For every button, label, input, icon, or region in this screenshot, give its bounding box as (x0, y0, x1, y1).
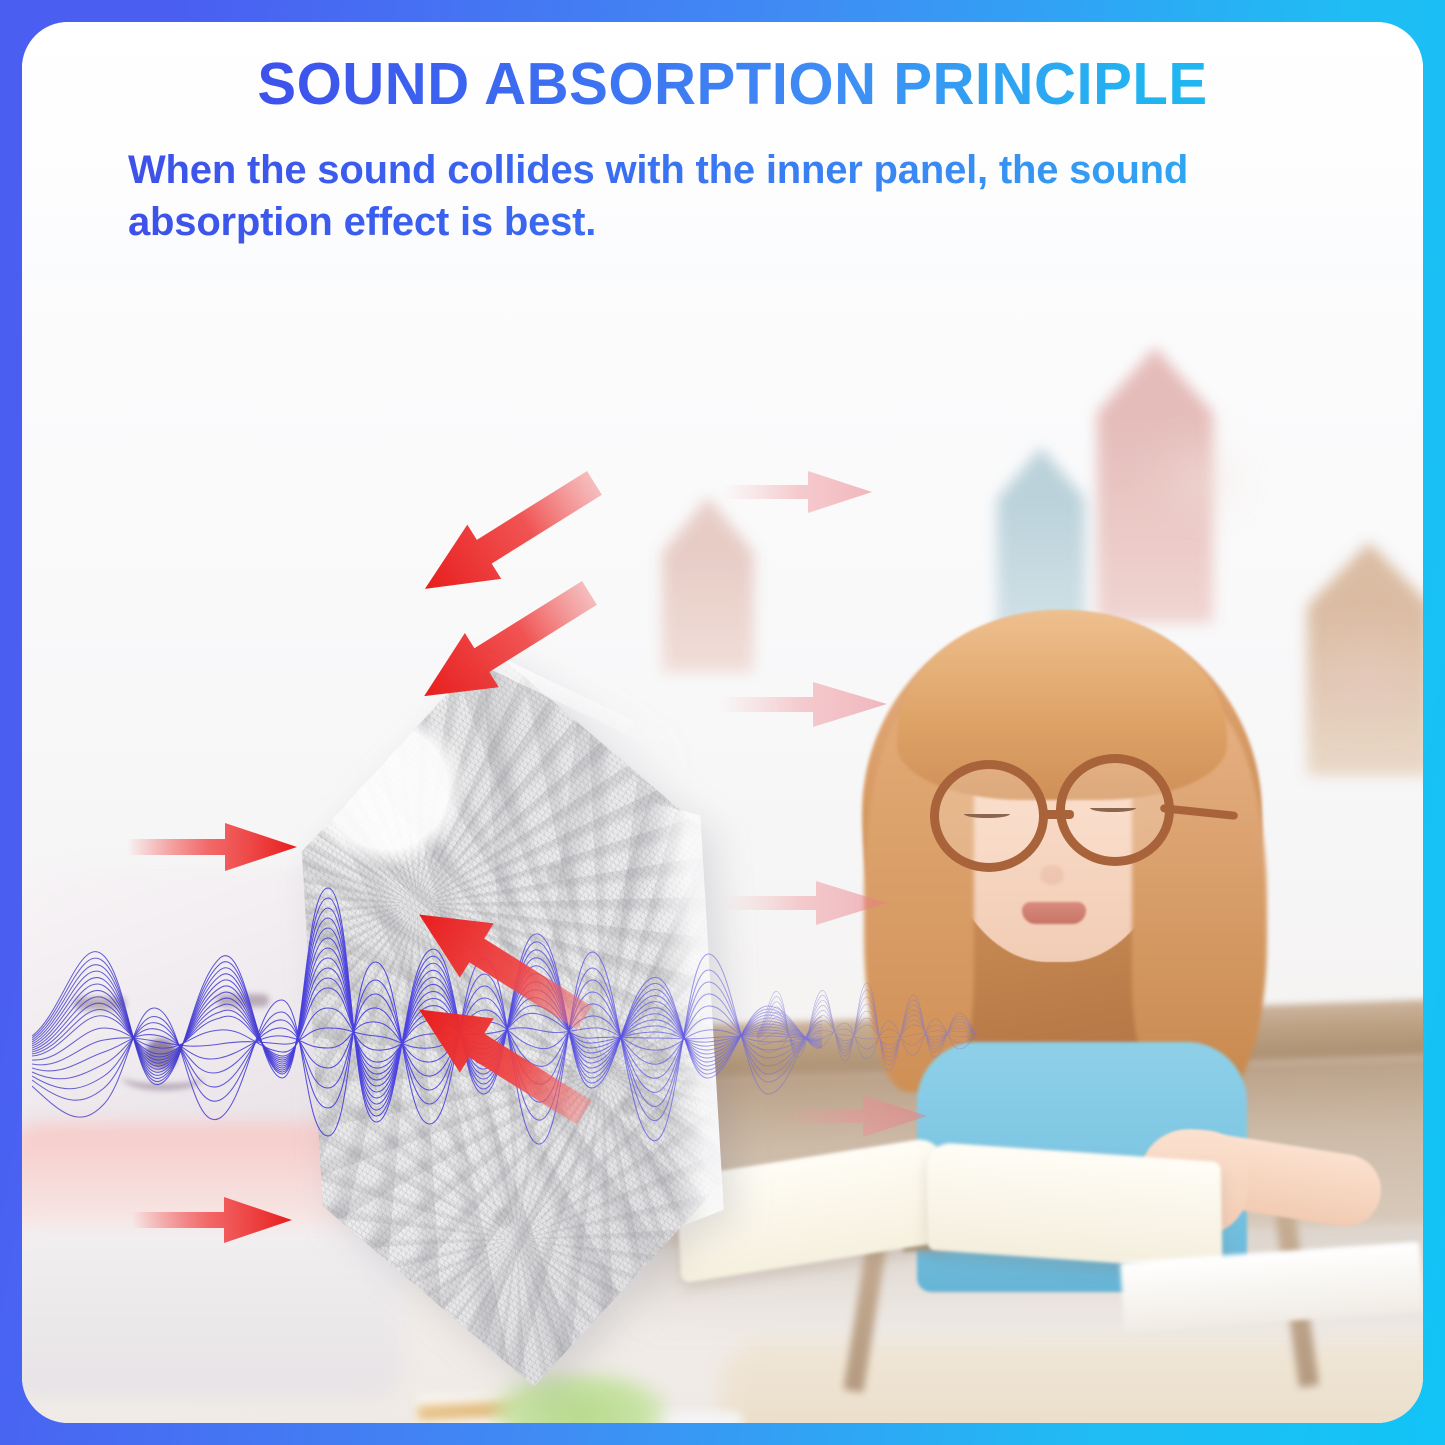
glasses-bridge (1044, 810, 1074, 819)
infographic-card: SOUND ABSORPTION PRINCIPLE When the soun… (0, 0, 1445, 1445)
incident-sound-arrow (127, 817, 297, 877)
page-title: SOUND ABSORPTION PRINCIPLE (92, 54, 1373, 116)
room-photo-scene (22, 252, 1423, 1423)
hair-fringe (897, 610, 1227, 800)
page-subtitle: When the sound collides with the inner p… (82, 144, 1383, 248)
shelf-roof (997, 447, 1085, 499)
eye-right (1090, 804, 1136, 812)
mouth (1022, 902, 1086, 924)
transmitted-sound-arrow (722, 877, 887, 929)
transmitted-sound-arrow (777, 1092, 927, 1140)
header-block: SOUND ABSORPTION PRINCIPLE When the soun… (22, 22, 1423, 280)
shelf-roof (1097, 347, 1213, 413)
nose (1040, 865, 1064, 885)
eye-left (964, 810, 1010, 818)
transmitted-sound-arrow (717, 677, 887, 732)
shelf-decor-blob (1172, 457, 1232, 502)
attenuated-sound-waves (757, 977, 977, 1092)
book-page-right (926, 1142, 1222, 1271)
transmitted-sound-arrow (722, 467, 872, 517)
incident-sound-arrow (132, 1192, 292, 1248)
card-inner-surface: SOUND ABSORPTION PRINCIPLE When the soun… (22, 22, 1423, 1423)
